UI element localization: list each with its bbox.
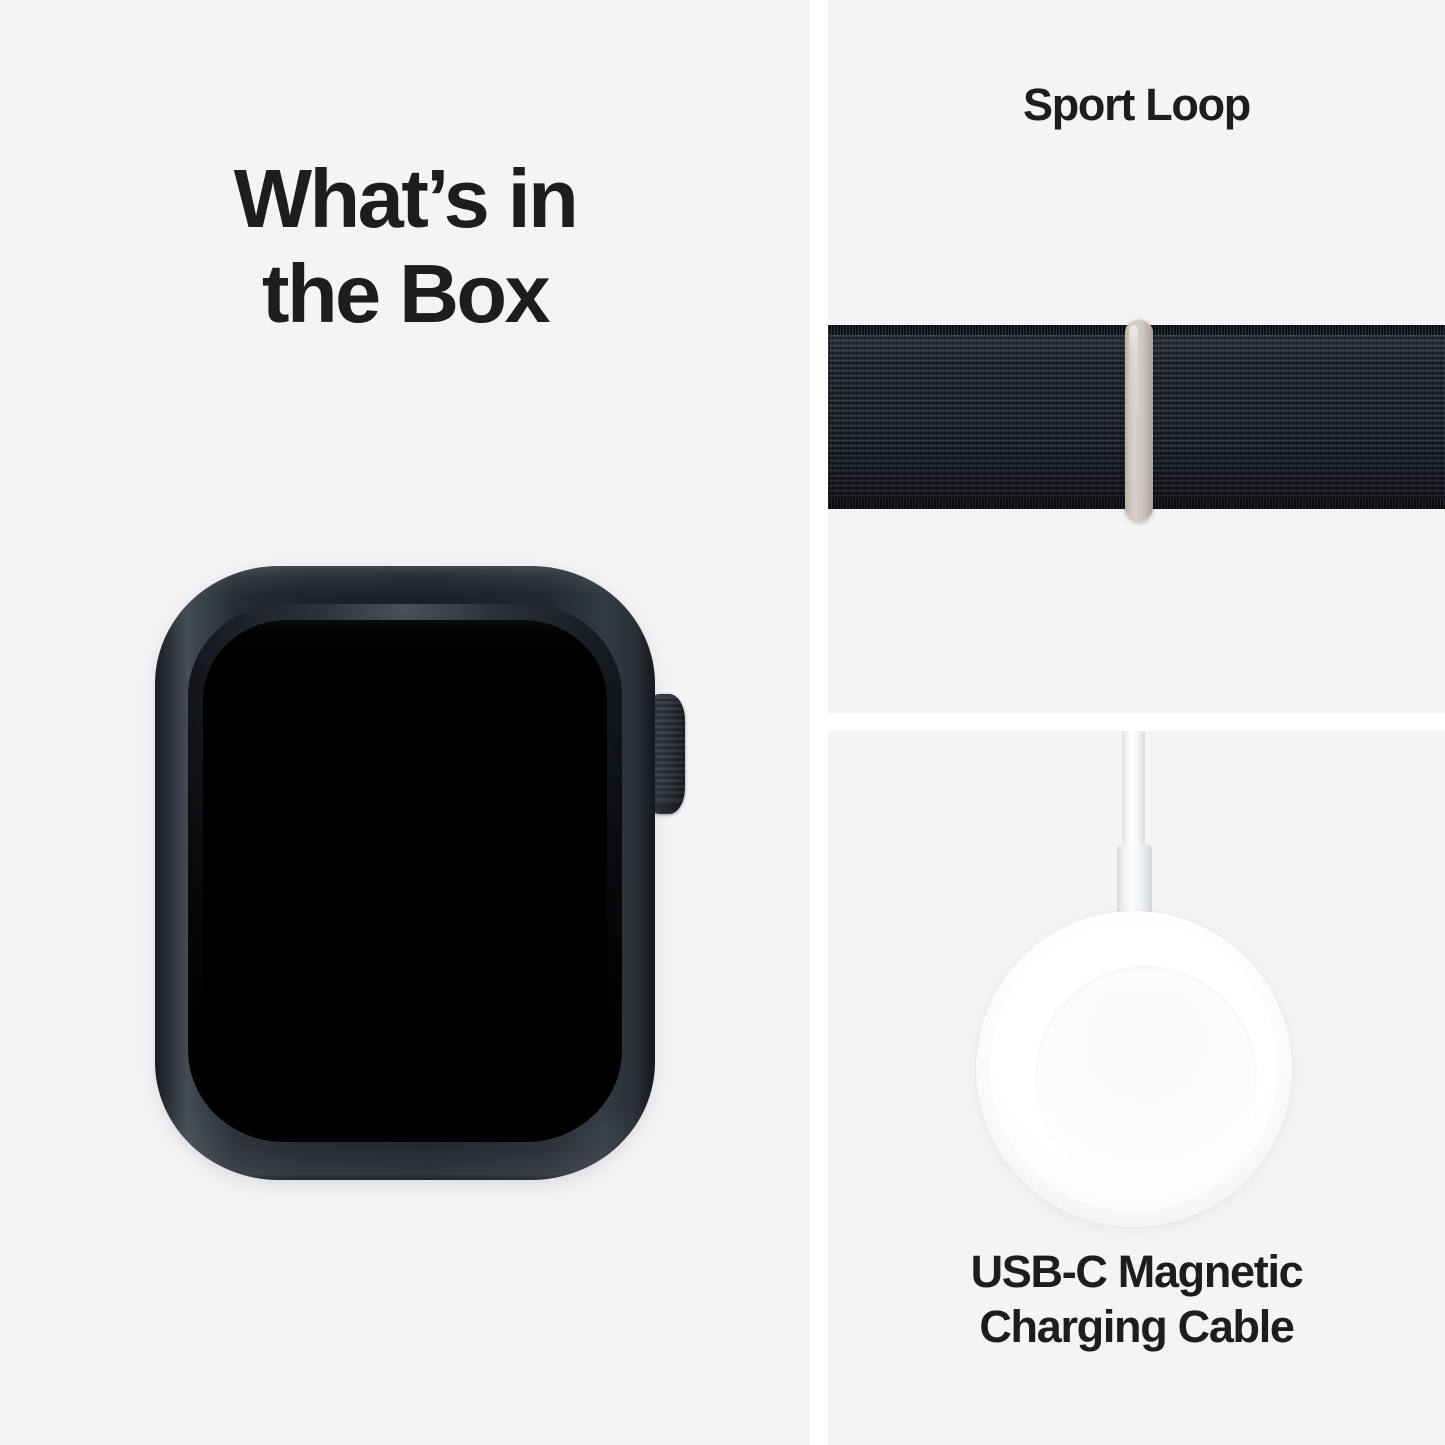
- charging-cable-cord: [1122, 731, 1145, 849]
- sport-loop-keeper-highlight: [1129, 325, 1138, 515]
- page-title: What’s in the Box: [0, 152, 810, 341]
- whats-in-the-box-figure: What’s in the Box Sport Loop: [0, 0, 1445, 1445]
- charging-cable-label: USB-C Magnetic Charging Cable: [828, 1245, 1445, 1355]
- panel-charging-cable: USB-C Magnetic Charging Cable: [828, 731, 1445, 1445]
- charging-puck: [976, 911, 1292, 1227]
- sport-loop-keeper: [1125, 319, 1153, 521]
- panel-whats-in-the-box: What’s in the Box: [0, 0, 810, 1445]
- charging-puck-face: [1035, 966, 1257, 1188]
- apple-watch-image: [155, 566, 685, 1180]
- sport-loop-label: Sport Loop: [828, 80, 1445, 130]
- watch-display: [203, 620, 607, 1126]
- panel-sport-loop: Sport Loop: [828, 0, 1445, 713]
- charging-puck-ring: [988, 923, 1280, 1215]
